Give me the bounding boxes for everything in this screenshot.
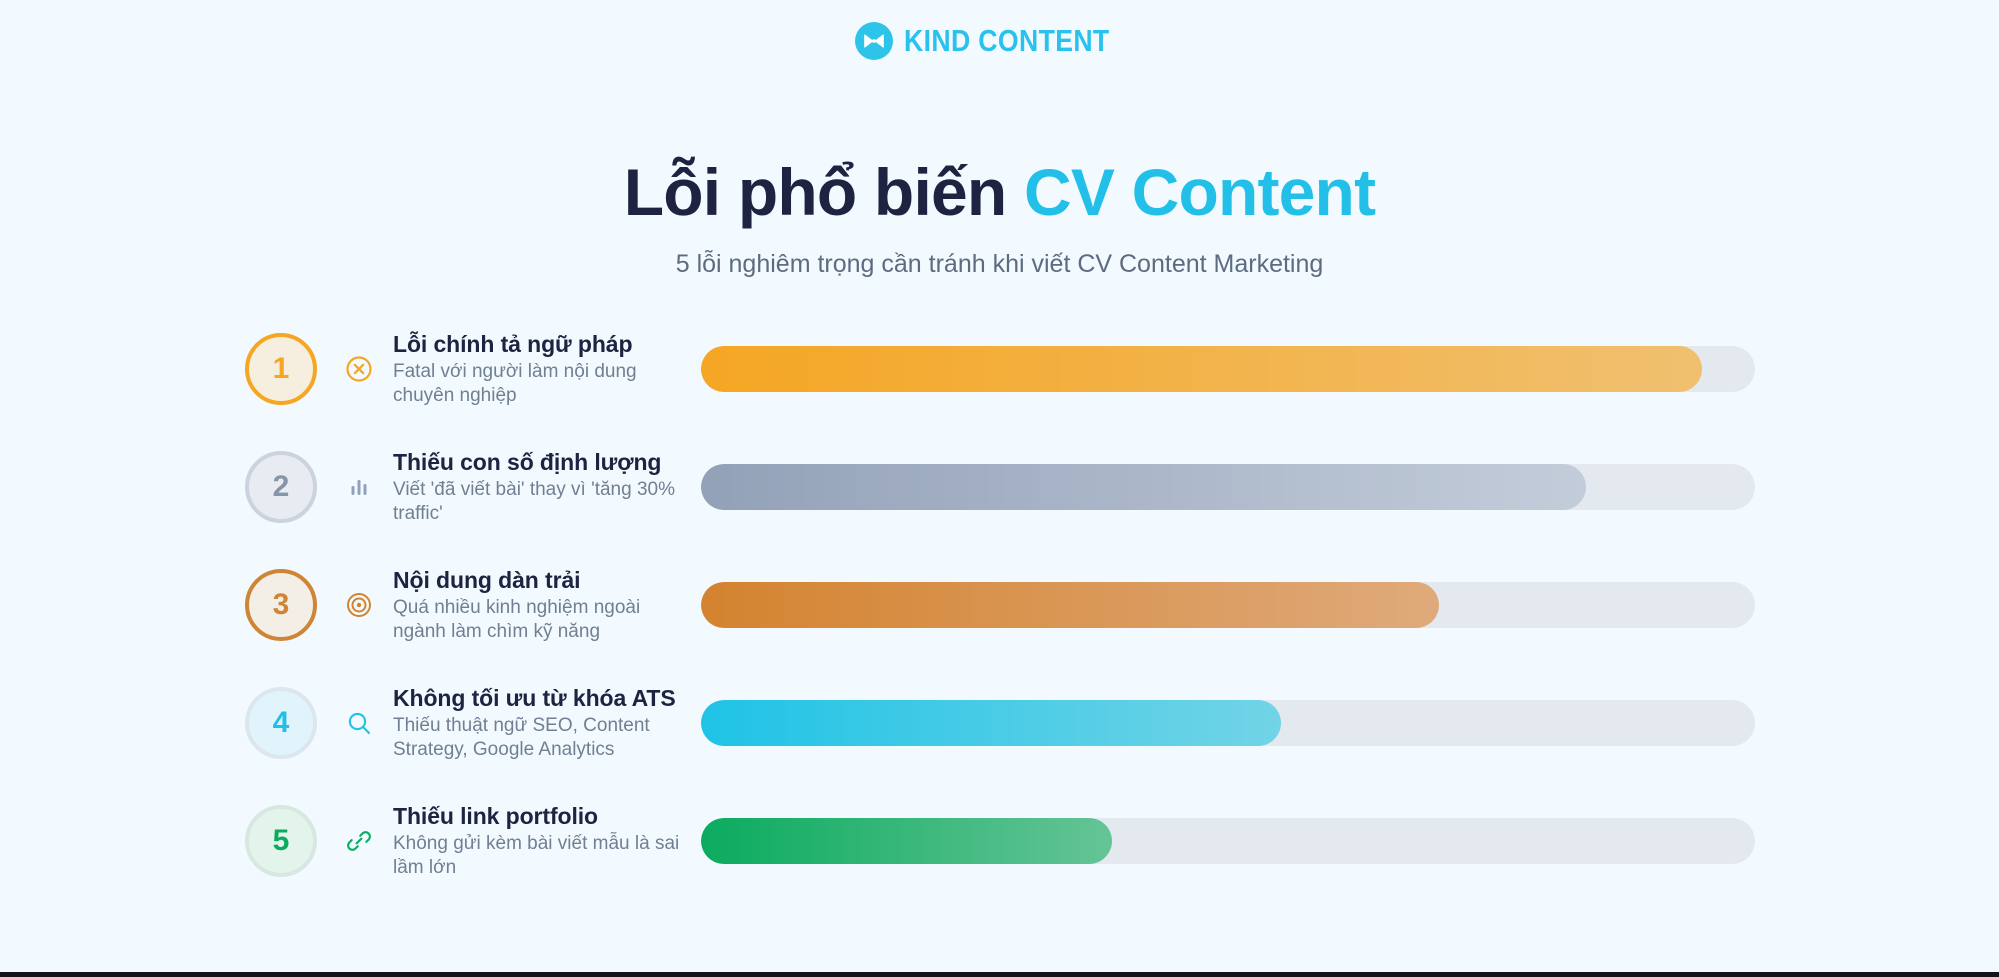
bowtie-circle-icon [855, 22, 893, 60]
item-text: Thiếu link portfolio Không gửi kèm bài v… [393, 802, 683, 880]
item-title: Nội dung dàn trải [393, 566, 683, 594]
bar-track [701, 582, 1755, 628]
brand-header: KIND CONTENT [0, 22, 1999, 60]
list-item: 2 Thiếu con số định lượng Viết 'đã viết … [245, 428, 1755, 546]
item-text: Không tối ưu từ khóa ATS Thiếu thuật ngữ… [393, 684, 683, 762]
bar-chart-icon [331, 472, 387, 502]
rank-number: 2 [273, 470, 290, 504]
item-text: Nội dung dàn trải Quá nhiều kinh nghiệm … [393, 566, 683, 644]
rank-number: 3 [273, 588, 290, 622]
item-title: Thiếu con số định lượng [393, 448, 683, 476]
rank-badge: 3 [245, 569, 317, 641]
page-title-accent: CV Content [1024, 155, 1375, 229]
link-icon [331, 826, 387, 856]
rank-badge: 4 [245, 687, 317, 759]
item-description: Thiếu thuật ngữ SEO, Content Strategy, G… [393, 714, 683, 762]
bar-fill [701, 582, 1439, 628]
list-item: 1 Lỗi chính tả ngữ pháp Fatal với người … [245, 310, 1755, 428]
item-description: Viết 'đã viết bài' thay vì 'tăng 30% tra… [393, 478, 683, 526]
rank-number: 5 [273, 824, 290, 858]
bar-track [701, 346, 1755, 392]
x-circle-icon [331, 354, 387, 384]
bar-track [701, 700, 1755, 746]
item-description: Không gửi kèm bài viết mẫu là sai lầm lớ… [393, 832, 683, 880]
item-text: Thiếu con số định lượng Viết 'đã viết bà… [393, 448, 683, 526]
mistake-list: 1 Lỗi chính tả ngữ pháp Fatal với người … [245, 310, 1755, 900]
bar-fill [701, 346, 1702, 392]
bar-track [701, 818, 1755, 864]
item-description: Fatal với người làm nội dung chuyên nghi… [393, 360, 683, 408]
brand-name: KIND CONTENT [904, 23, 1110, 59]
list-item: 3 Nội dung dàn trải Quá nhiều kinh nghiệ… [245, 546, 1755, 664]
infographic-page: KIND CONTENT Lỗi phổ biến CV Content 5 l… [0, 0, 1999, 977]
search-icon [331, 708, 387, 738]
rank-badge: 5 [245, 805, 317, 877]
bar-fill [701, 700, 1281, 746]
item-description: Quá nhiều kinh nghiệm ngoài ngành làm ch… [393, 596, 683, 644]
rank-badge: 2 [245, 451, 317, 523]
rank-badge: 1 [245, 333, 317, 405]
bar-fill [701, 818, 1112, 864]
item-text: Lỗi chính tả ngữ pháp Fatal với người là… [393, 330, 683, 408]
page-title: Lỗi phổ biến CV Content [0, 158, 1999, 227]
list-item: 5 Thiếu link portfolio Không gửi kèm bài… [245, 782, 1755, 900]
rank-number: 1 [273, 352, 290, 386]
item-title: Thiếu link portfolio [393, 802, 683, 830]
item-title: Không tối ưu từ khóa ATS [393, 684, 683, 712]
item-title: Lỗi chính tả ngữ pháp [393, 330, 683, 358]
list-item: 4 Không tối ưu từ khóa ATS Thiếu thuật n… [245, 664, 1755, 782]
target-icon [331, 590, 387, 620]
page-subtitle: 5 lỗi nghiêm trọng cần tránh khi viết CV… [0, 250, 1999, 279]
bar-track [701, 464, 1755, 510]
page-title-main: Lỗi phổ biến [624, 155, 1007, 229]
rank-number: 4 [273, 706, 290, 740]
bar-fill [701, 464, 1586, 510]
